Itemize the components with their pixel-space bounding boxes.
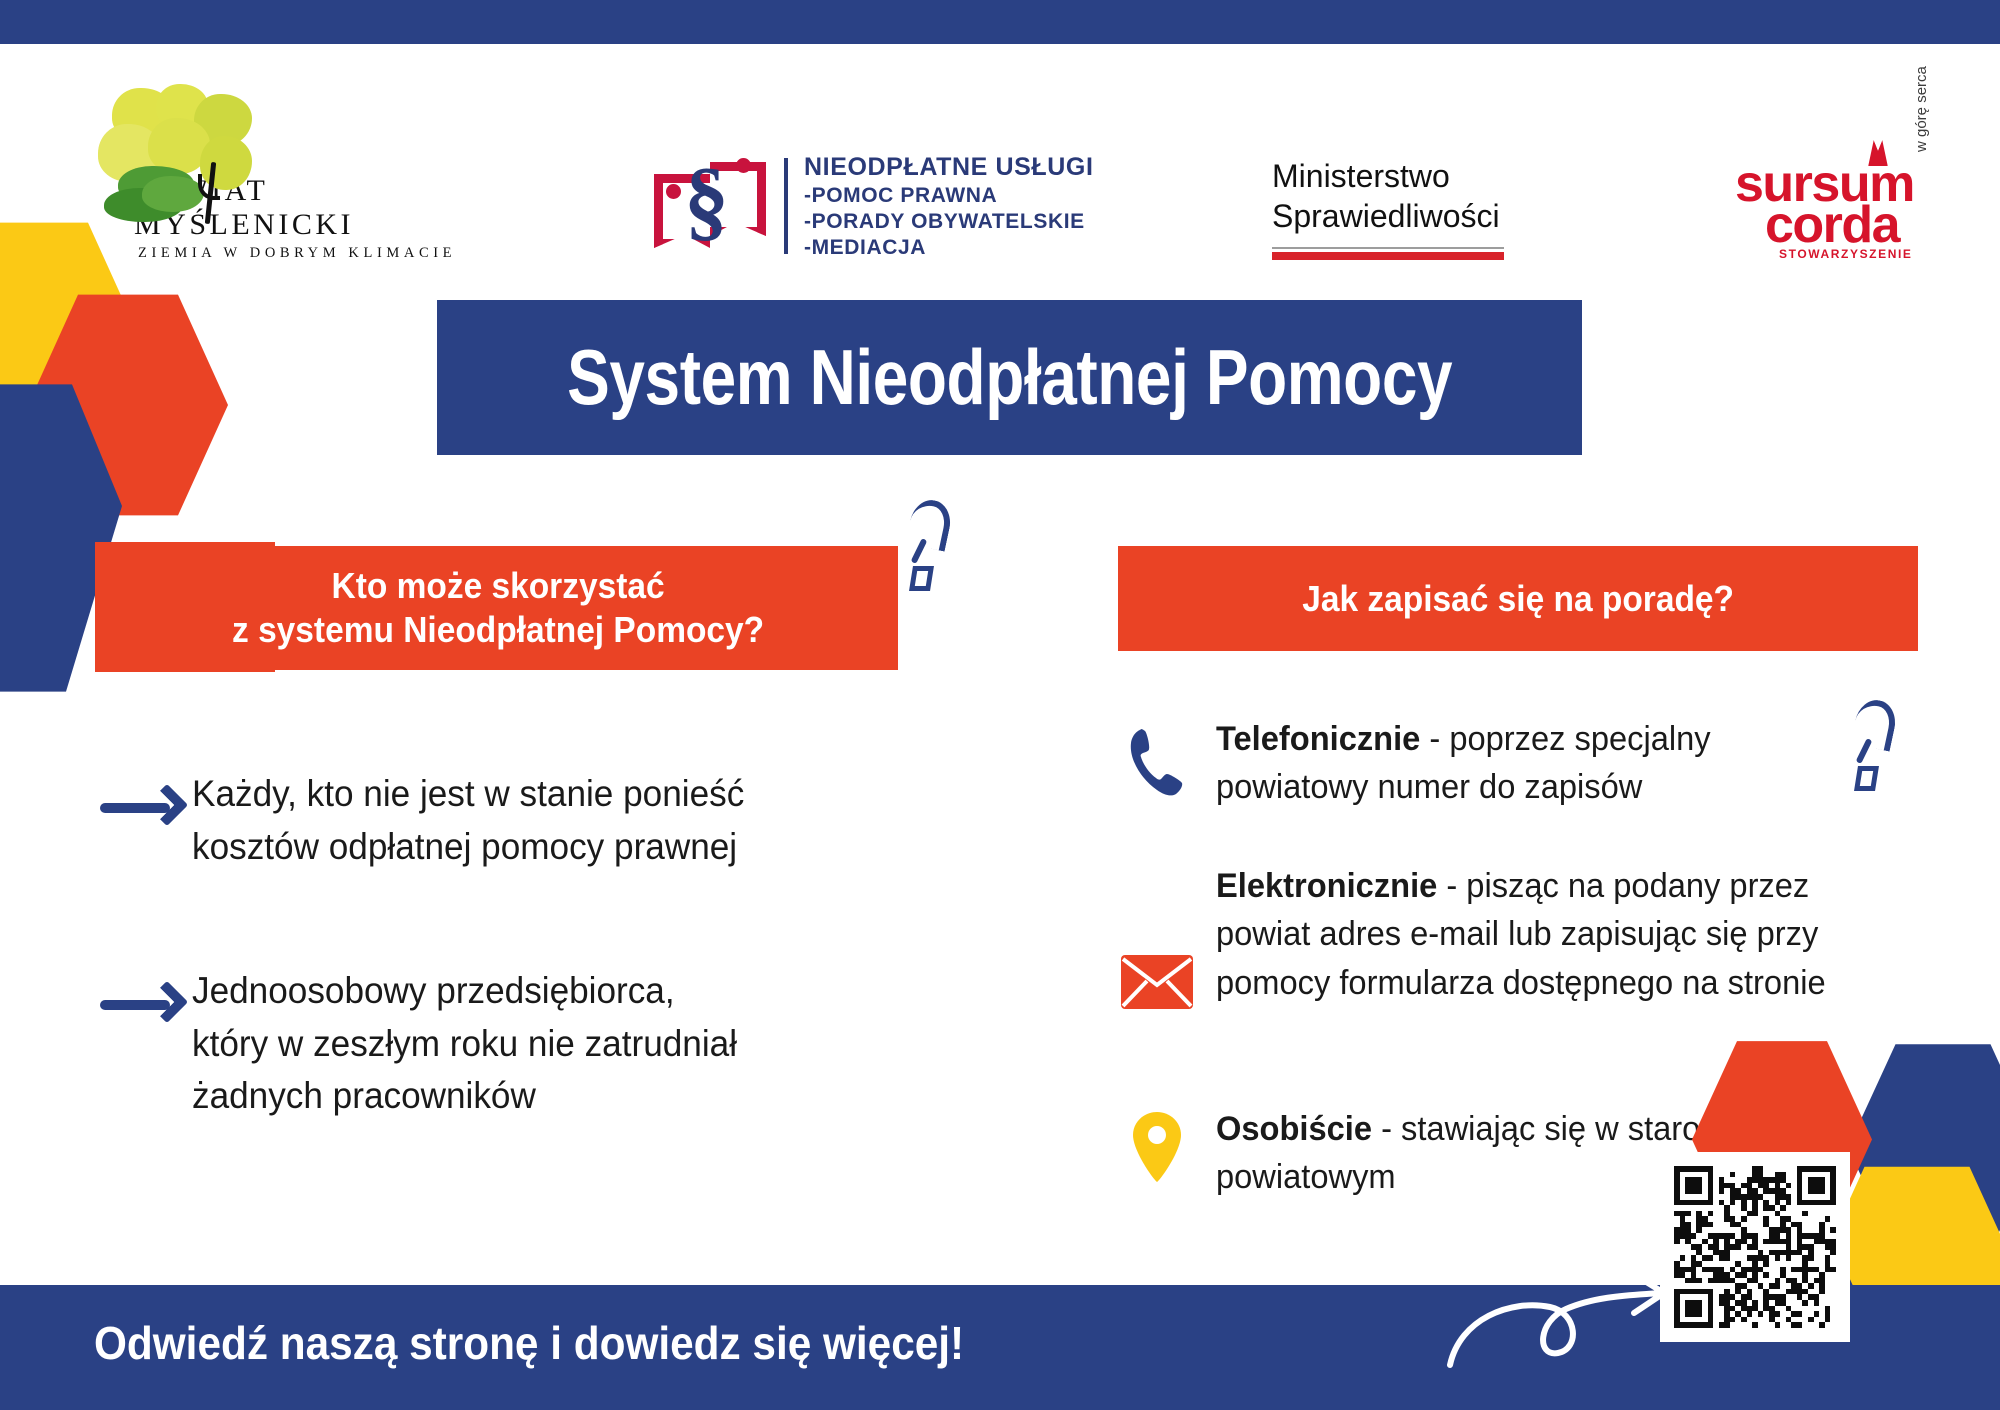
signup-item-phone: Telefonicznie - poprzez specjalny powiat… bbox=[1098, 715, 1856, 812]
logo-min-line2: Sprawiedliwości bbox=[1272, 196, 1504, 236]
logo-nieodplatne-uslugi: § NIEODPŁATNE USŁUGI -POMOC PRAWNA -PORA… bbox=[650, 152, 1094, 260]
paragraph-book-icon: § bbox=[650, 152, 770, 260]
left-bullet-2-line3: żadnych pracowników bbox=[192, 1070, 737, 1123]
paragraph-symbol: § bbox=[684, 156, 729, 246]
logo-sursum-word2: corda bbox=[1765, 199, 1899, 251]
logo-min-line1: Ministerstwo bbox=[1272, 156, 1504, 196]
logo-strip: POWIAT MYŚLENICKI ZIEMIA W DOBRYM KLIMAC… bbox=[0, 44, 2000, 244]
logo-sursum-corda: sursum corda STOWARZYSZENIE w górę serca bbox=[1735, 144, 1955, 259]
logo-min-rule-gray bbox=[1272, 247, 1504, 249]
signup-person-label: Osobiście bbox=[1216, 1110, 1372, 1148]
left-bullet-1-line2: kosztów odpłatnej pomocy prawnej bbox=[192, 821, 744, 874]
logo-nieod-line2: -POMOC PRAWNA bbox=[804, 184, 1094, 208]
left-section-header: Kto może skorzystać z systemu Nieodpłatn… bbox=[98, 546, 898, 670]
logo-powiat-line2: ZIEMIA W DOBRYM KLIMACIE bbox=[138, 245, 460, 262]
logo-nieod-line4: -MEDIACJA bbox=[804, 236, 1094, 260]
logo-sursum-subtitle: STOWARZYSZENIE bbox=[1779, 247, 1913, 261]
arrow-right-icon bbox=[100, 981, 192, 1027]
signup-phone-label: Telefonicznie bbox=[1216, 720, 1420, 758]
map-pin-icon bbox=[1131, 1111, 1183, 1183]
footer-cta-text: Odwiedź naszą stronę i dowiedz się więce… bbox=[94, 1316, 964, 1370]
qr-code[interactable] bbox=[1660, 1152, 1850, 1342]
signup-email-label: Elektronicznie bbox=[1216, 867, 1437, 905]
right-heading: Jak zapisać się na poradę? bbox=[1302, 577, 1734, 621]
envelope-icon bbox=[1120, 954, 1194, 1010]
logo-nieod-line1: NIEODPŁATNE USŁUGI bbox=[804, 153, 1094, 182]
logo-ministerstwo-sprawiedliwosci: Ministerstwo Sprawiedliwości bbox=[1272, 156, 1504, 260]
curved-arrow-icon bbox=[1432, 1265, 1682, 1375]
qr-code-matrix bbox=[1674, 1166, 1836, 1328]
signup-item-email: Elektronicznie - pisząc na podany przez … bbox=[1098, 862, 1856, 1010]
left-bullet-1-line1: Każdy, kto nie jest w stanie ponieść bbox=[192, 768, 744, 821]
top-navy-band bbox=[0, 0, 2000, 44]
left-bullet-1: Każdy, kto nie jest w stanie ponieść kos… bbox=[100, 768, 980, 873]
left-bullet-2-line1: Jednoosobowy przedsiębiorca, bbox=[192, 965, 737, 1018]
left-bullet-2: Jednoosobowy przedsiębiorca, który w zes… bbox=[100, 965, 980, 1123]
left-bullet-2-line2: który w zeszłym roku nie zatrudniał bbox=[192, 1018, 737, 1071]
question-mark-icon-left bbox=[910, 500, 980, 610]
infographic-page: POWIAT MYŚLENICKI ZIEMIA W DOBRYM KLIMAC… bbox=[0, 0, 2000, 1410]
logo-min-rule-red bbox=[1272, 252, 1504, 260]
arrow-right-icon bbox=[100, 784, 192, 830]
question-mark-icon-right bbox=[1855, 700, 1925, 810]
logo-divider bbox=[784, 158, 788, 254]
title-banner: System Nieodpłatnej Pomocy bbox=[437, 300, 1582, 455]
logo-sursum-vertical-tagline: w górę serca bbox=[1913, 66, 1930, 152]
phone-icon bbox=[1126, 725, 1188, 801]
left-heading-line2: z systemu Nieodpłatnej Pomocy? bbox=[232, 608, 764, 652]
powiat-tree-map-icon bbox=[90, 84, 280, 204]
logo-nieod-line3: -PORADY OBYWATELSKIE bbox=[804, 210, 1094, 234]
right-section-header: Jak zapisać się na poradę? bbox=[1118, 546, 1918, 651]
page-title: System Nieodpłatnej Pomocy bbox=[567, 332, 1452, 423]
left-heading-line1: Kto może skorzystać bbox=[331, 564, 664, 608]
logo-powiat-myslenicki: POWIAT MYŚLENICKI ZIEMIA W DOBRYM KLIMAC… bbox=[80, 84, 460, 262]
